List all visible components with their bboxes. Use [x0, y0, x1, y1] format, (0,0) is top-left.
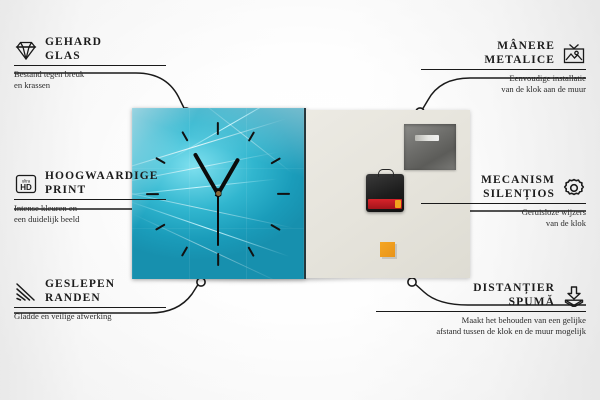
metal-hanger-plate — [404, 124, 456, 170]
diamond-icon — [14, 39, 38, 61]
feature-rule — [14, 307, 166, 308]
feature-title: GESLEPEN RANDEN — [45, 278, 115, 305]
feature-rule — [376, 311, 586, 312]
feature-hoogwaardige-print: ultra HD HOOGWAARDIGE PRINT Intense kleu… — [14, 170, 166, 225]
feature-description: Geruisloze wijzers van de klok — [421, 207, 586, 229]
clock-mechanism — [366, 174, 404, 212]
feature-title: HOOGWAARDIGE PRINT — [45, 170, 159, 197]
picture-hanger-icon — [562, 43, 586, 65]
battery — [368, 199, 402, 209]
infographic-canvas: GEHARD GLAS Bestand tegen breuk en krass… — [0, 0, 600, 400]
feature-manere-metalice: MÂNERE METALICE Eenvoudige installatie v… — [421, 40, 586, 95]
feature-distantier-spuma: DISTANȚIER SPUMĂ Maakt het behouden van … — [376, 282, 586, 337]
ultra-hd-icon: ultra HD — [14, 173, 38, 195]
feature-mecanism-silentios: MECANISM SILENȚIOS Geruisloze wijzers va… — [421, 174, 586, 229]
feature-title: MECANISM SILENȚIOS — [481, 174, 555, 201]
feature-rule — [14, 199, 166, 200]
feature-description: Eenvoudige installatie van de klok aan d… — [421, 73, 586, 95]
feature-title: MÂNERE METALICE — [484, 40, 555, 67]
feature-title: GEHARD GLAS — [45, 36, 102, 63]
ground-edges-icon — [14, 281, 38, 303]
product-image — [132, 108, 470, 288]
feature-description: Intense kleuren en een duidelijk beeld — [14, 203, 166, 225]
gear-icon — [562, 177, 586, 199]
feature-title: DISTANȚIER SPUMĂ — [473, 282, 555, 309]
feature-description: Bestand tegen breuk en krassen — [14, 69, 166, 91]
feature-description: Maakt het behouden van een gelijke afsta… — [376, 315, 586, 337]
feature-geslepen-randen: GESLEPEN RANDEN Gladde en veilige afwerk… — [14, 278, 166, 322]
foam-spacer — [380, 242, 395, 257]
clock-hub — [216, 191, 221, 196]
feature-rule — [421, 69, 586, 70]
spacer-press-icon — [562, 285, 586, 307]
feature-rule — [14, 65, 166, 66]
feature-description: Gladde en veilige afwerking — [14, 311, 166, 322]
feature-rule — [421, 203, 586, 204]
svg-text:HD: HD — [20, 183, 32, 192]
feature-gehard-glas: GEHARD GLAS Bestand tegen breuk en krass… — [14, 36, 166, 91]
